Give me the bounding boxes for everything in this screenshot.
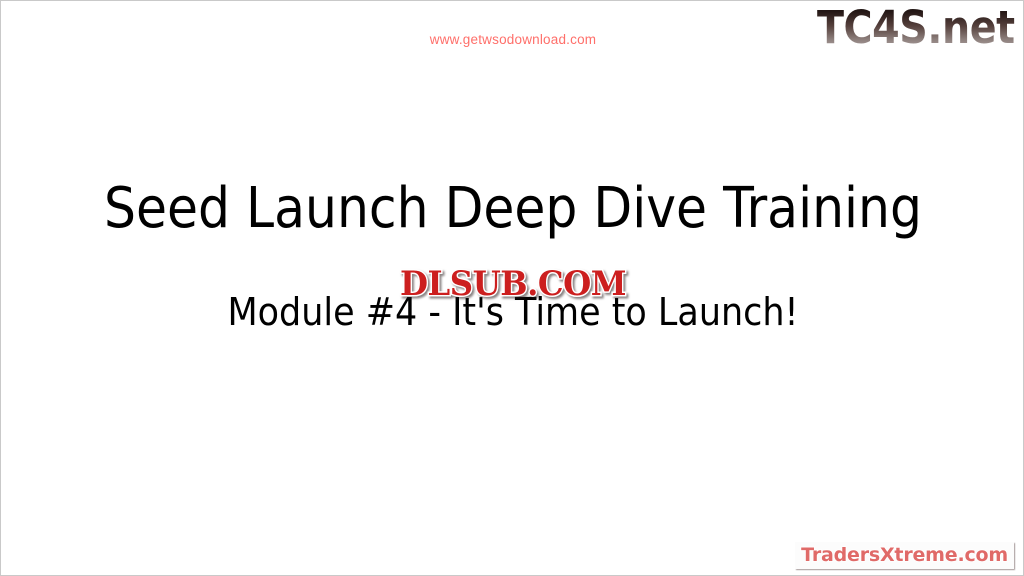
slide-title: Seed Launch Deep Dive Training (52, 177, 974, 241)
presentation-slide: www.getwsodownload.com TC4S.net Seed Lau… (0, 0, 1024, 576)
slide-subtitle: Module #4 - It's Time to Launch! (42, 290, 984, 334)
tc4s-logo: TC4S.net (817, 2, 1015, 54)
tradersxtreme-logo: TradersXtreme.com (795, 542, 1014, 569)
